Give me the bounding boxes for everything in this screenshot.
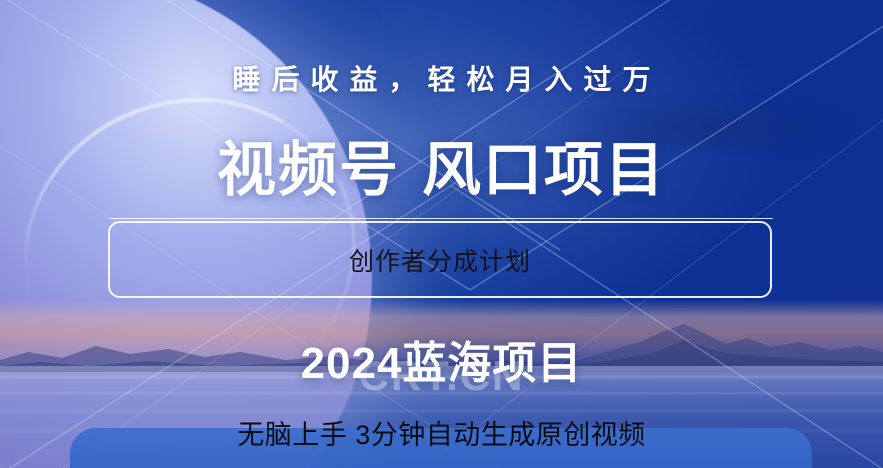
subtitle-text: 创作者分成计划 <box>349 242 531 278</box>
headline-divider-line <box>109 218 773 219</box>
project-headline-text: 2024蓝海项目 <box>0 327 883 391</box>
headline-part2: 风口项目 <box>422 137 666 203</box>
poster-content: 睡后收益，轻松月入过万 视频号风口项目 创作者分成计划 CRT.CN 2024蓝… <box>0 0 883 468</box>
subtitle-box: 创作者分成计划 <box>108 221 772 298</box>
footer-text: 无脑上手 3分钟自动生成原创视频 <box>0 413 883 452</box>
headline: 视频号风口项目 <box>0 141 883 200</box>
promo-poster: 睡后收益，轻松月入过万 视频号风口项目 创作者分成计划 CRT.CN 2024蓝… <box>0 0 883 468</box>
headline-part1: 视频号 <box>217 137 400 203</box>
tagline-text: 睡后收益，轻松月入过万 <box>0 58 883 98</box>
